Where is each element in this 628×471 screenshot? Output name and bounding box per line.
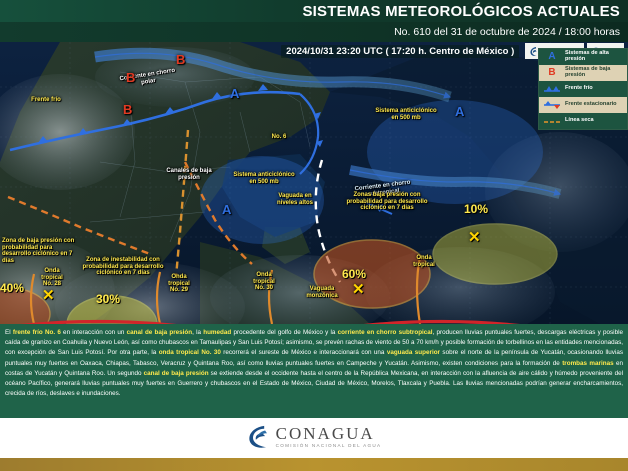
map-graphics xyxy=(0,42,628,324)
stationary-front-icon xyxy=(542,101,562,109)
legend-label-alta-presion: Sistemas de alta presión xyxy=(565,51,625,63)
conagua-eagle-icon-footer xyxy=(247,424,271,450)
map-legend: A Sistemas de alta presión B Sistemas de… xyxy=(538,48,628,130)
legend-label-frente-estacionario: Frente estacionario xyxy=(565,102,617,108)
bulletin-number: No. 610 del 31 de octubre de 2024 / 18:0… xyxy=(394,26,628,38)
footer-org-subtitle: COMISIÓN NACIONAL DEL AGUA xyxy=(276,444,382,449)
footer-org-name: CONAGUA xyxy=(276,425,382,442)
legend-item-linea-seca[interactable]: Línea seca xyxy=(539,113,627,129)
bulletin-page: SISTEMAS METEOROLÓGICOS ACTUALES No. 610… xyxy=(0,0,628,471)
discussion-paragraph: El frente frío No. 6 en interacción con … xyxy=(5,328,623,399)
cold-front-icon xyxy=(542,85,562,93)
page-footer: CONAGUA COMISIÓN NACIONAL DEL AGUA xyxy=(0,418,628,471)
low-pressure-icon: B xyxy=(542,68,562,78)
legend-item-alta-presion[interactable]: A Sistemas de alta presión xyxy=(539,49,627,65)
footer-conagua-logo: CONAGUA COMISIÓN NACIONAL DEL AGUA xyxy=(247,424,382,450)
discussion-panel: El frente frío No. 6 en interacción con … xyxy=(0,324,628,418)
footer-text-group: CONAGUA COMISIÓN NACIONAL DEL AGUA xyxy=(276,425,382,449)
legend-item-baja-presion[interactable]: B Sistemas de baja presión xyxy=(539,65,627,81)
bulletin-subheader: No. 610 del 31 de octubre de 2024 / 18:0… xyxy=(0,22,628,42)
footer-gold-bar xyxy=(0,458,628,471)
legend-label-baja-presion: Sistemas de baja presión xyxy=(565,67,625,79)
legend-label-linea-seca: Línea seca xyxy=(565,118,594,124)
legend-item-frente-frio[interactable]: Frente frío xyxy=(539,81,627,97)
high-pressure-icon: A xyxy=(542,52,562,62)
legend-label-frente-frio: Frente frío xyxy=(565,86,593,92)
legend-item-frente-estacionario[interactable]: Frente estacionario xyxy=(539,97,627,113)
dry-line-icon xyxy=(542,117,562,125)
page-header: SISTEMAS METEOROLÓGICOS ACTUALES xyxy=(0,0,628,22)
cyclone-zone-60 xyxy=(314,240,430,308)
page-title: SISTEMAS METEOROLÓGICOS ACTUALES xyxy=(302,3,628,20)
weather-map[interactable]: Corriente en chorro polar Corriente en c… xyxy=(0,42,628,324)
cyclone-zone-10 xyxy=(433,224,557,284)
